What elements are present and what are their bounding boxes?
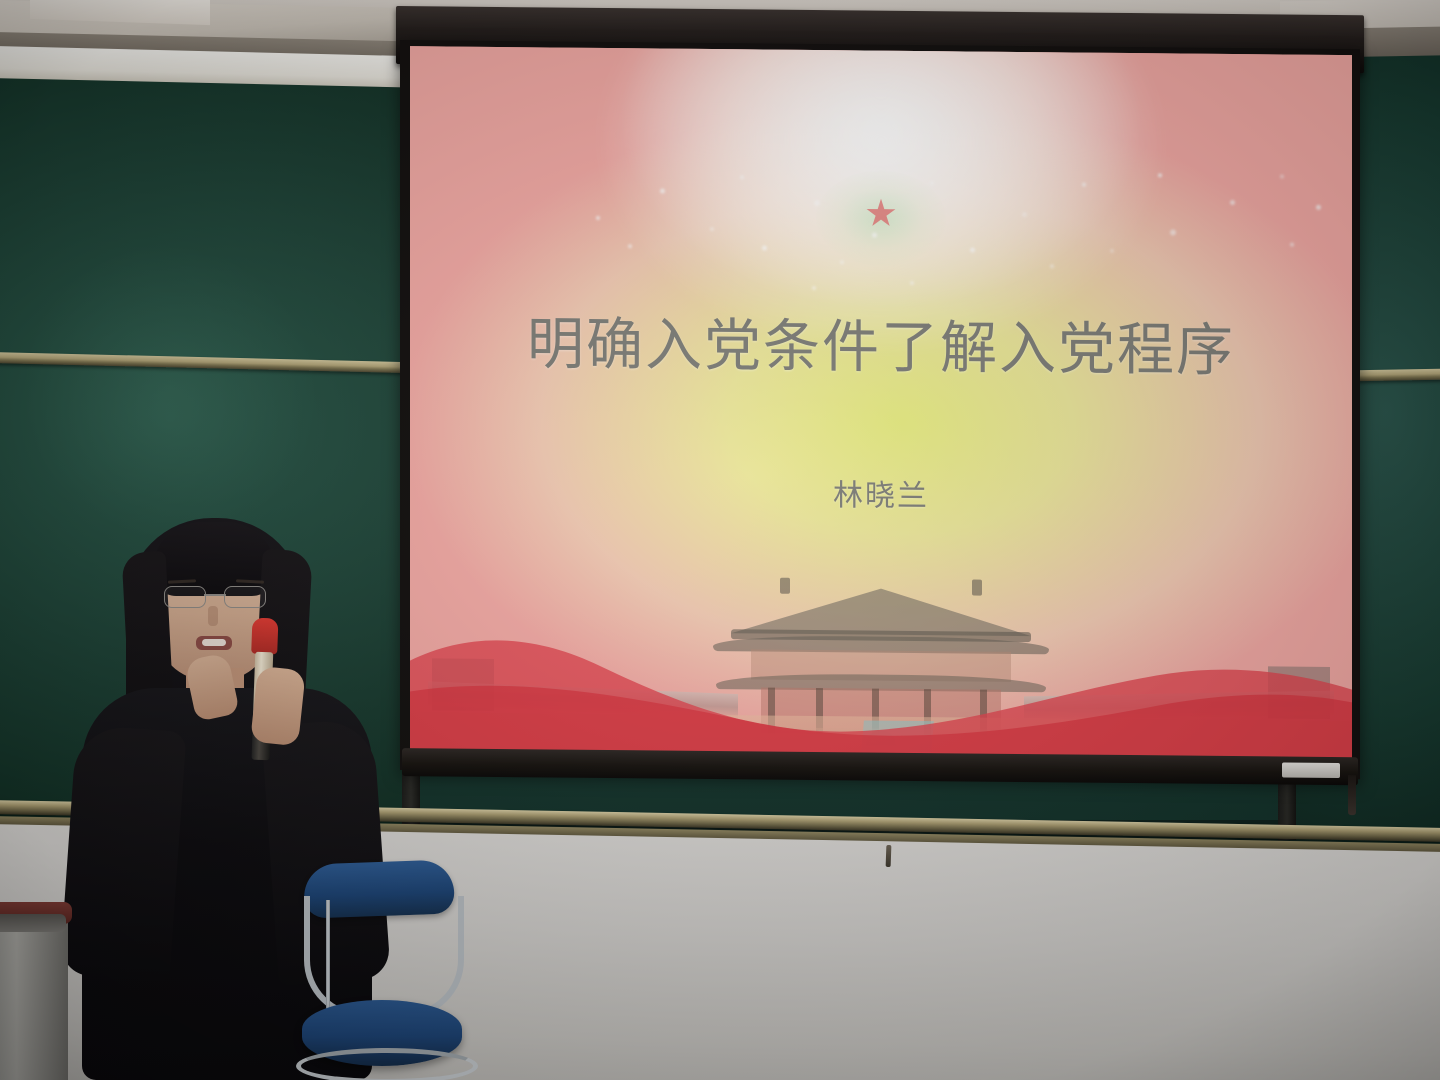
- microphone-head: [251, 618, 278, 655]
- light-dot: [740, 175, 744, 179]
- light-dot: [1158, 173, 1162, 177]
- classroom-photo-scene: 明确入党条件了解入党程序 林晓兰: [0, 0, 1440, 1080]
- light-dot: [872, 233, 877, 238]
- lens-left: [164, 586, 206, 608]
- projection-screen: 明确入党条件了解入党程序 林晓兰: [396, 6, 1364, 805]
- hand-right: [250, 666, 306, 747]
- light-dot: [710, 227, 714, 231]
- waste-bin: [0, 898, 68, 1080]
- glasses-bridge: [204, 594, 226, 596]
- screen-brand-label: [1282, 763, 1340, 779]
- light-dot: [1082, 183, 1086, 187]
- light-dot: [840, 260, 844, 264]
- light-dot: [660, 189, 665, 194]
- chair-base-ring: [296, 1048, 478, 1080]
- light-dot: [1316, 205, 1321, 210]
- light-dot: [812, 286, 816, 290]
- blue-chair: [296, 862, 476, 1080]
- light-dot: [814, 200, 820, 206]
- wall-hook: [886, 845, 892, 867]
- bin-inner: [0, 914, 66, 932]
- light-dot: [628, 244, 632, 248]
- slide-title: 明确入党条件了解入党程序: [410, 314, 1352, 383]
- light-dot: [762, 246, 767, 251]
- light-dot: [930, 181, 934, 185]
- light-dot: [1050, 264, 1054, 268]
- bin-body: [0, 916, 68, 1080]
- light-dot: [1230, 200, 1235, 205]
- light-dot: [1280, 174, 1284, 178]
- hair-top: [152, 522, 276, 596]
- screen-pull-tab[interactable]: [1348, 775, 1356, 815]
- nose: [208, 606, 218, 626]
- teeth: [202, 639, 226, 646]
- light-dot: [1170, 229, 1176, 235]
- light-dot: [1022, 212, 1027, 217]
- slide-subtitle: 林晓兰: [410, 466, 1352, 519]
- chair-support-post: [326, 900, 330, 1012]
- screen-frame: 明确入党条件了解入党程序 林晓兰: [400, 40, 1360, 779]
- light-dot: [596, 216, 600, 220]
- light-dot: [1290, 243, 1294, 247]
- light-dot: [970, 248, 975, 253]
- light-dot: [910, 281, 914, 285]
- lens-right: [224, 586, 266, 608]
- arm-left: [59, 724, 186, 981]
- glasses-icon: [162, 586, 268, 606]
- light-dot: [1110, 249, 1114, 253]
- presentation-slide: 明确入党条件了解入党程序 林晓兰: [410, 46, 1352, 769]
